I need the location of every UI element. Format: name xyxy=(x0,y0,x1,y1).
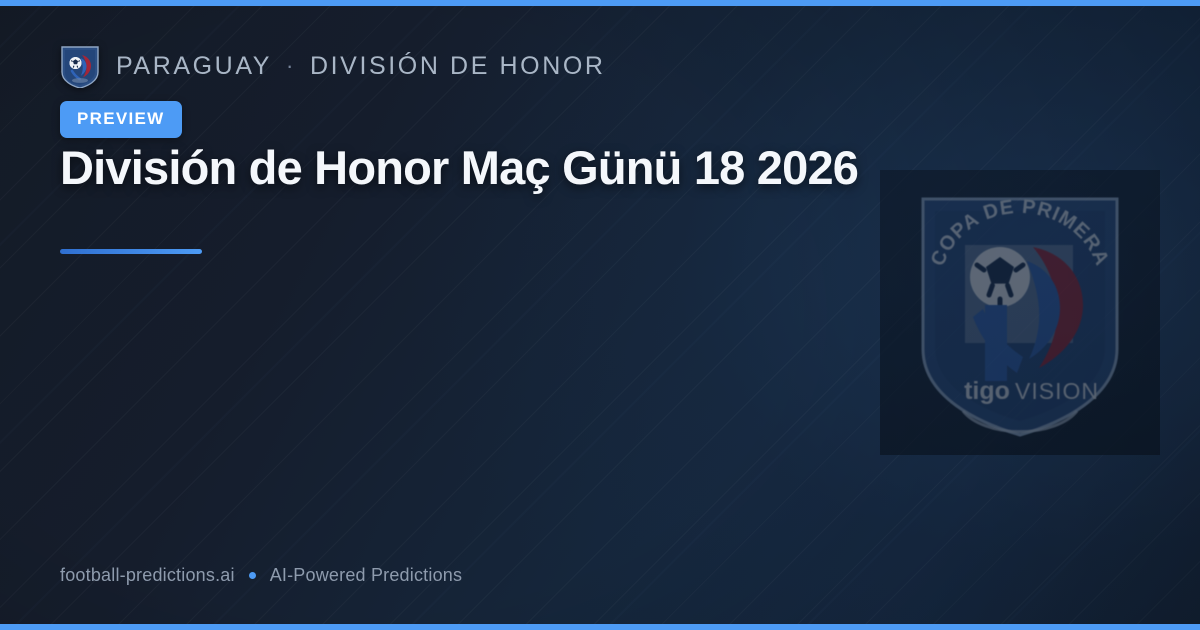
footer-tagline: AI-Powered Predictions xyxy=(270,565,463,586)
og-card: PARAGUAY · DIVISIÓN DE HONOR PREVIEW Div… xyxy=(0,0,1200,630)
header-breadcrumb: PARAGUAY · DIVISIÓN DE HONOR xyxy=(116,52,606,81)
top-accent-bar xyxy=(0,0,1200,6)
footer-site: football-predictions.ai xyxy=(60,565,235,586)
bottom-accent-bar xyxy=(0,624,1200,630)
svg-text:VISION: VISION xyxy=(1015,378,1099,404)
crest-watermark-panel: COPA DE PRIMERA tigo VISION xyxy=(880,170,1160,455)
page-title: División de Honor Maç Günü 18 2026 xyxy=(60,142,1020,195)
svg-text:tigo: tigo xyxy=(964,377,1010,405)
footer: football-predictions.ai AI-Powered Predi… xyxy=(60,565,462,586)
header-country: PARAGUAY xyxy=(116,52,272,81)
header-separator: · xyxy=(286,53,296,79)
header-competition: DIVISIÓN DE HONOR xyxy=(310,52,606,81)
status-badge: PREVIEW xyxy=(60,101,182,138)
blue-dot-icon xyxy=(249,572,256,579)
paraguay-league-crest-icon xyxy=(60,44,100,88)
header: PARAGUAY · DIVISIÓN DE HONOR xyxy=(60,44,606,88)
title-accent-bar xyxy=(60,249,202,254)
copa-de-primera-crest-icon: COPA DE PRIMERA tigo VISION xyxy=(905,185,1135,440)
